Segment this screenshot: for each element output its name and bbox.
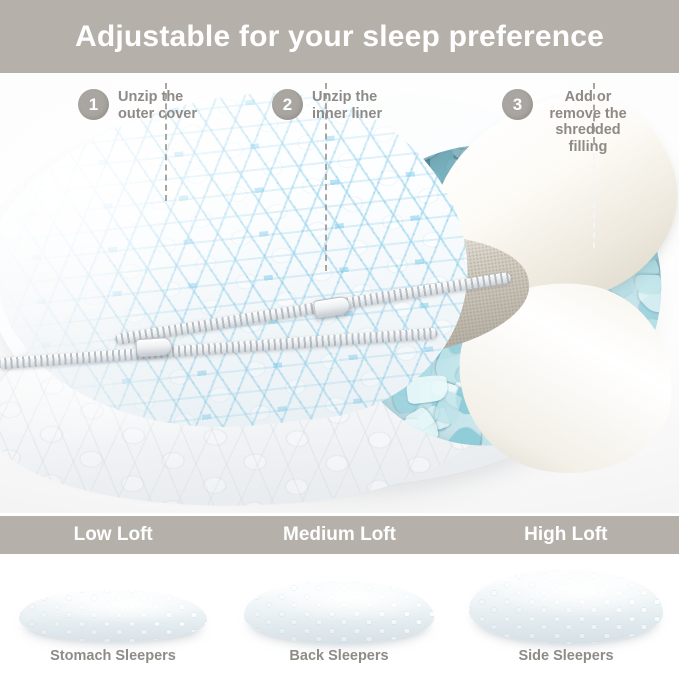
thumbnail-low-loft: Stomach Sleepers [0, 554, 226, 674]
medium-loft-pillow-wrap [226, 554, 452, 646]
step-1-number-badge: 1 [78, 89, 109, 120]
step-2-label: Unzip the inner liner [312, 89, 382, 122]
high-loft-pillow-image [469, 570, 663, 644]
loft-label-medium: Medium Loft [283, 524, 396, 545]
infographic-page: Adjustable for your sleep preference [0, 0, 679, 674]
mini-shading [244, 581, 434, 644]
outer-zipper-pull-icon [135, 337, 172, 357]
sleeper-label-stomach: Stomach Sleepers [0, 648, 226, 664]
sleeper-label-back: Back Sleepers [226, 648, 452, 664]
thumbnail-high-loft: Side Sleepers [453, 554, 679, 674]
foam-chip [672, 302, 679, 331]
high-loft-pillow-wrap [453, 554, 679, 646]
mini-shading [19, 590, 207, 642]
thumbnail-medium-loft: Back Sleepers [226, 554, 452, 674]
leader-line-step-3-over-filling [593, 143, 595, 248]
loft-label-low: Low Loft [74, 524, 153, 545]
low-loft-pillow-wrap [0, 554, 226, 646]
foam-chip [668, 268, 679, 306]
loft-level-bar: Low Loft Medium Loft High Loft [0, 516, 679, 554]
step-1-label: Unzip the outer cover [118, 89, 197, 122]
step-3-number-badge: 3 [502, 89, 533, 120]
mini-shading [469, 570, 663, 644]
loft-label-high: High Loft [524, 524, 607, 545]
medium-loft-pillow-image [244, 581, 434, 644]
loft-cell-medium: Medium Loft [226, 524, 452, 546]
sleeper-label-side: Side Sleepers [453, 648, 679, 664]
low-loft-pillow-image [19, 590, 207, 642]
foam-chip [676, 353, 679, 386]
step-callouts: 1 Unzip the outer cover 2 Unzip the inne… [0, 73, 679, 153]
header-banner: Adjustable for your sleep preference [0, 0, 679, 73]
foam-chip [667, 294, 679, 319]
loft-cell-high: High Loft [453, 524, 679, 546]
step-2: 2 Unzip the inner liner [272, 89, 382, 122]
foam-chip [664, 257, 679, 277]
step-2-number-badge: 2 [272, 89, 303, 120]
loft-thumbnail-row: Stomach Sleepers Back Sleepers Side Slee… [0, 554, 679, 674]
page-title: Adjustable for your sleep preference [75, 20, 604, 54]
step-3-label: Add or remove the shredded filling [542, 89, 634, 155]
step-3: 3 Add or remove the shredded filling [502, 89, 634, 155]
loft-cell-low: Low Loft [0, 524, 226, 546]
step-1: 1 Unzip the outer cover [78, 89, 197, 122]
